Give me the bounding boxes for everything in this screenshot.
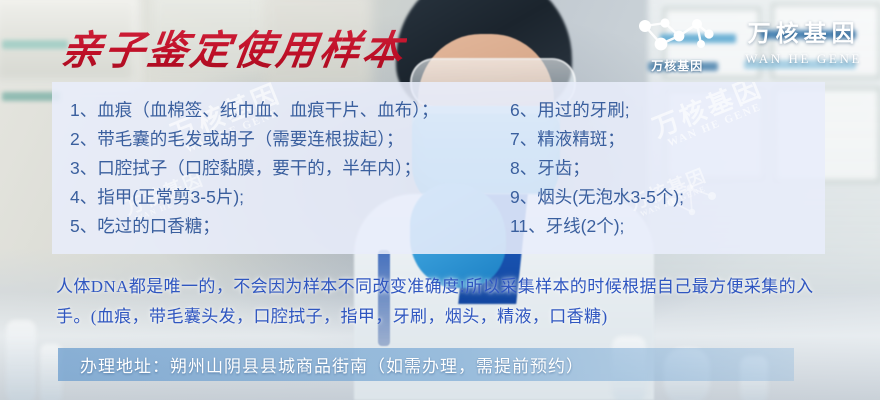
sample-list-panel: 万核基因 WAN HE GENE 万核基因 WAN HE GENE 万核基因 W…	[52, 82, 825, 254]
list-item: 8、牙齿；	[510, 154, 810, 183]
list-item: 7、精液精斑；	[510, 125, 810, 154]
brand-name-en: WAN HE GENE	[745, 52, 862, 65]
list-item: 9、烟头(无泡水3-5个);	[510, 183, 810, 212]
foreground-glassware	[6, 320, 36, 400]
address-bar: 办理地址：朔州山阴县县城商品街南（如需办理，需提前预约）	[58, 348, 794, 381]
sample-list-left: 1、血痕（血棉签、纸巾血、血痕干片、血布）； 2、带毛囊的毛发或胡子（需要连根拔…	[70, 96, 500, 241]
list-item: 5、吃过的口香糖；	[70, 212, 500, 241]
bg-label-strip	[2, 40, 68, 49]
list-item: 1、血痕（血棉签、纸巾血、血痕干片、血布）；	[70, 96, 500, 125]
brand-logo: 万核基因 万核基因 WAN HE GENE	[635, 14, 862, 72]
brand-wordmark: 万核基因 WAN HE GENE	[745, 22, 862, 65]
sample-list-right: 6、用过的牙刷; 7、精液精斑； 8、牙齿； 9、烟头(无泡水3-5个); 11…	[510, 96, 810, 241]
sample-list-left-column: 1、血痕（血棉签、纸巾血、血痕干片、血布）； 2、带毛囊的毛发或胡子（需要连根拔…	[52, 82, 500, 254]
logo-mark-label: 万核基因	[651, 57, 703, 74]
list-item: 6、用过的牙刷;	[510, 96, 810, 125]
sample-list-right-column: 6、用过的牙刷; 7、精液精斑； 8、牙齿； 9、烟头(无泡水3-5个); 11…	[500, 82, 810, 254]
list-item: 4、指甲(正常剪3-5片);	[70, 183, 500, 212]
list-item: 2、带毛囊的毛发或胡子（需要连根拔起）；	[70, 125, 500, 154]
list-item: 11、牙线(2个);	[510, 212, 810, 241]
page-title: 亲子鉴定使用样本	[58, 18, 410, 76]
brand-name-cn: 万核基因	[745, 22, 862, 45]
address-text: 办理地址：朔州山阴县县城商品街南（如需办理，需提前预约）	[58, 352, 584, 377]
list-item: 3、口腔拭子（口腔黏膜，要干的，半年内）；	[70, 154, 500, 183]
poster-canvas: 亲子鉴定使用样本	[0, 0, 880, 400]
molecule-network-icon: 万核基因	[635, 14, 719, 72]
note-paragraph: 人体DNA都是唯一的，不会因为样本不同改变准确度!所以采集样本的时候根据自己最方…	[56, 272, 846, 332]
